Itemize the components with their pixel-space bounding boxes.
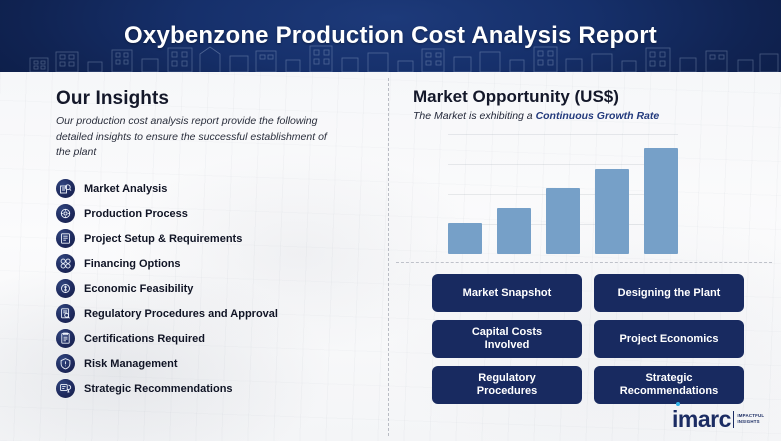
list-item[interactable]: Economic Feasibility: [56, 276, 376, 301]
list-item-label: Regulatory Procedures and Approval: [84, 308, 278, 320]
logo-dot-icon: [676, 402, 680, 406]
list-item-label: Certifications Required: [84, 333, 205, 345]
list-item-label: Risk Management: [84, 358, 178, 370]
list-item-label: Economic Feasibility: [84, 283, 193, 295]
topic-button-capital-costs-involved[interactable]: Capital Costs Involved: [432, 320, 582, 358]
production-process-icon: [56, 204, 75, 223]
logo-divider: [733, 411, 735, 428]
chart-bars: [448, 134, 678, 254]
topic-button-regulatory-procedures[interactable]: Regulatory Procedures: [432, 366, 582, 404]
chart-bar: [497, 208, 531, 254]
logo-tagline: IMPACTFUL INSIGHTS: [737, 413, 764, 425]
certifications-icon: [56, 329, 75, 348]
list-item-label: Market Analysis: [84, 183, 167, 195]
insights-panel: Our Insights Our production cost analysi…: [0, 72, 388, 441]
chart-bar: [644, 148, 678, 254]
header-banner: Oxybenzone Production Cost Analysis Repo…: [0, 0, 781, 72]
economic-feasibility-icon: [56, 279, 75, 298]
financing-options-icon: [56, 254, 75, 273]
list-item[interactable]: Strategic Recommendations: [56, 376, 376, 401]
slide-root: Oxybenzone Production Cost Analysis Repo…: [0, 0, 781, 441]
subtitle-lead: The Market is exhibiting a: [413, 110, 536, 122]
logo-wordmark: imarc: [672, 408, 731, 431]
list-item[interactable]: Financing Options: [56, 251, 376, 276]
insights-title: Our Insights: [56, 88, 169, 110]
market-opportunity-title: Market Opportunity (US$): [413, 87, 619, 107]
subtitle-accent: Continuous Growth Rate: [536, 110, 660, 122]
chart-bar: [448, 223, 482, 254]
list-item[interactable]: Project Setup & Requirements: [56, 226, 376, 251]
list-item-label: Financing Options: [84, 258, 181, 270]
list-item[interactable]: Production Process: [56, 201, 376, 226]
insights-list: Market Analysis Production Process Proje…: [56, 176, 376, 401]
market-opportunity-subtitle: The Market is exhibiting a Continuous Gr…: [413, 110, 659, 122]
topic-button-market-snapshot[interactable]: Market Snapshot: [432, 274, 582, 312]
list-item-label: Strategic Recommendations: [84, 383, 233, 395]
logo-tagline-line2: INSIGHTS: [737, 419, 764, 425]
topic-button-grid: Market Snapshot Designing the Plant Capi…: [432, 274, 744, 404]
market-opportunity-panel: Market Opportunity (US$) The Market is e…: [388, 72, 781, 441]
insights-subtitle: Our production cost analysis report prov…: [56, 114, 336, 161]
page-title: Oxybenzone Production Cost Analysis Repo…: [0, 0, 781, 72]
list-item[interactable]: Risk Management: [56, 351, 376, 376]
list-item-label: Project Setup & Requirements: [84, 233, 242, 245]
chart-bar: [595, 169, 629, 254]
list-item[interactable]: Certifications Required: [56, 326, 376, 351]
regulatory-procedures-icon: [56, 304, 75, 323]
list-item[interactable]: Regulatory Procedures and Approval: [56, 301, 376, 326]
project-setup-icon: [56, 229, 75, 248]
topic-button-designing-the-plant[interactable]: Designing the Plant: [594, 274, 744, 312]
topic-button-project-economics[interactable]: Project Economics: [594, 320, 744, 358]
market-analysis-icon: [56, 179, 75, 198]
chart-bar: [546, 188, 580, 254]
strategic-recommendations-icon: [56, 379, 75, 398]
risk-management-icon: [56, 354, 75, 373]
market-opportunity-bar-chart: [448, 134, 678, 254]
list-item-label: Production Process: [84, 208, 188, 220]
topic-button-strategic-recommendations[interactable]: Strategic Recommendations: [594, 366, 744, 404]
list-item[interactable]: Market Analysis: [56, 176, 376, 201]
imarc-logo[interactable]: imarc IMPACTFUL INSIGHTS: [672, 405, 772, 433]
